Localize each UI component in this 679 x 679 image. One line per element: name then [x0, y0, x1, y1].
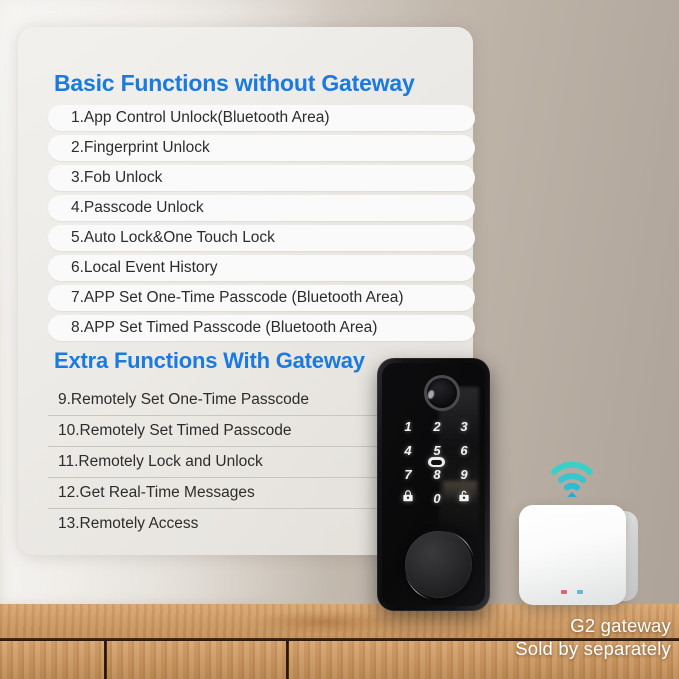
lock-glass-face: 1 2 3 4 5 6 7 8 9 0: [382, 363, 485, 606]
smart-door-lock: 1 2 3 4 5 6 7 8 9 0: [377, 358, 490, 611]
gateway-caption-line2: Sold by separately: [515, 638, 671, 660]
feature-pill-1: 1.App Control Unlock(Bluetooth Area): [48, 105, 475, 131]
section-title-extra: Extra Functions With Gateway: [54, 348, 365, 374]
feature-text-3: 3.Fob Unlock: [71, 169, 162, 187]
feature-pill-4: 4.Passcode Unlock: [48, 195, 475, 221]
feature-row-13: 13.Remotely Access: [48, 508, 393, 539]
feature-row-9: 9.Remotely Set One-Time Passcode: [48, 384, 393, 416]
keypad-key-5[interactable]: 5: [427, 443, 447, 458]
gateway-top-edge: [525, 505, 625, 518]
feature-text-10: 10.Remotely Set Timed Passcode: [58, 422, 291, 440]
product-scene: Basic Functions without Gateway 1.App Co…: [0, 0, 679, 679]
gateway-body: [519, 505, 626, 605]
fingerprint-reader-icon[interactable]: [424, 375, 460, 411]
feature-text-4: 4.Passcode Unlock: [71, 199, 204, 217]
led-indicator-red: [561, 590, 567, 594]
lock-keypad[interactable]: 1 2 3 4 5 6 7 8 9 0: [390, 419, 479, 514]
feature-text-12: 12.Get Real-Time Messages: [58, 484, 255, 502]
keypad-key-2[interactable]: 2: [427, 419, 447, 434]
g2-gateway-device: [519, 505, 638, 605]
feature-text-7: 7.APP Set One-Time Passcode (Bluetooth A…: [71, 289, 404, 307]
lock-locked-icon[interactable]: [401, 489, 415, 503]
feature-row-11: 11.Remotely Lock and Unlock: [48, 446, 393, 478]
keypad-key-1[interactable]: 1: [398, 419, 418, 434]
drawer-seam-right: [286, 641, 289, 679]
keypad-key-0[interactable]: 0: [427, 491, 447, 506]
wifi-signal-icon: [548, 458, 596, 498]
keypad-key-7[interactable]: 7: [398, 467, 418, 482]
feature-pill-3: 3.Fob Unlock: [48, 165, 475, 191]
feature-text-13: 13.Remotely Access: [58, 515, 198, 533]
feature-text-8: 8.APP Set Timed Passcode (Bluetooth Area…: [71, 319, 377, 337]
section-title-basic: Basic Functions without Gateway: [54, 70, 415, 97]
feature-text-1: 1.App Control Unlock(Bluetooth Area): [71, 109, 329, 127]
feature-pill-6: 6.Local Event History: [48, 255, 475, 281]
keypad-key-6[interactable]: 6: [454, 443, 474, 458]
keypad-key-4[interactable]: 4: [398, 443, 418, 458]
feature-pill-2: 2.Fingerprint Unlock: [48, 135, 475, 161]
wood-grain-knot: [250, 610, 400, 634]
drawer-seam-left: [104, 641, 107, 679]
lock-unlocked-icon[interactable]: [457, 489, 471, 503]
feature-text-5: 5.Auto Lock&One Touch Lock: [71, 229, 275, 247]
keypad-key-8[interactable]: 8: [427, 467, 447, 482]
feature-row-12: 12.Get Real-Time Messages: [48, 477, 393, 509]
feature-pill-5: 5.Auto Lock&One Touch Lock: [48, 225, 475, 251]
keypad-key-9[interactable]: 9: [454, 467, 474, 482]
feature-text-6: 6.Local Event History: [71, 259, 217, 277]
feature-row-10: 10.Remotely Set Timed Passcode: [48, 415, 393, 447]
status-indicator-icon: [428, 457, 445, 467]
keypad-key-3[interactable]: 3: [454, 419, 474, 434]
feature-text-2: 2.Fingerprint Unlock: [71, 139, 210, 157]
led-indicator-blue: [577, 590, 583, 594]
gateway-caption-line1: G2 gateway: [570, 615, 671, 637]
feature-text-11: 11.Remotely Lock and Unlock: [58, 453, 263, 471]
feature-pill-7: 7.APP Set One-Time Passcode (Bluetooth A…: [48, 285, 475, 311]
feature-text-9: 9.Remotely Set One-Time Passcode: [58, 391, 309, 409]
feature-pill-8: 8.APP Set Timed Passcode (Bluetooth Area…: [48, 315, 475, 341]
thumb-turn-knob-icon[interactable]: [405, 531, 472, 598]
